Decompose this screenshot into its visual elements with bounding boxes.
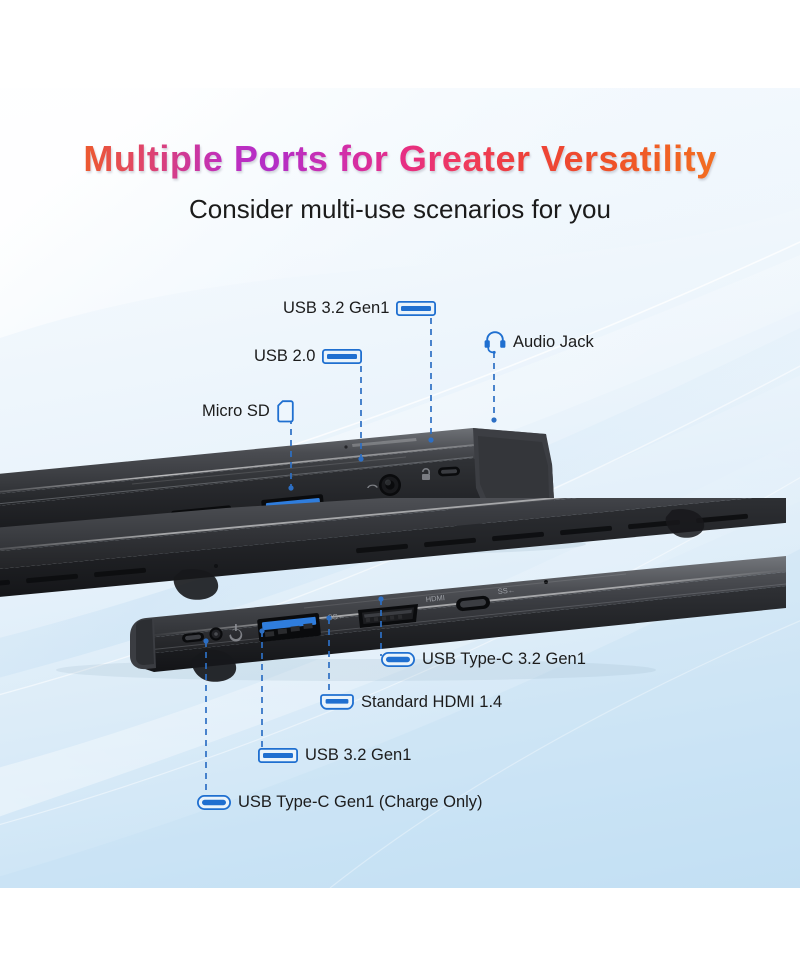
usb-a-port-icon bbox=[396, 301, 436, 316]
headset-icon bbox=[484, 330, 506, 354]
label-usbc32gen1: USB Type-C 3.2 Gen1 bbox=[381, 651, 586, 668]
label-usb32gen1-top: USB 3.2 Gen1 bbox=[283, 300, 436, 317]
hdmi-port-icon bbox=[320, 694, 354, 710]
usb-c-port-icon bbox=[381, 652, 415, 667]
label-usbc-charge-text: USB Type-C Gen1 (Charge Only) bbox=[238, 794, 483, 811]
label-audiojack: Audio Jack bbox=[484, 330, 594, 354]
label-hdmi: Standard HDMI 1.4 bbox=[320, 694, 502, 711]
label-usb20-text: USB 2.0 bbox=[254, 348, 315, 365]
label-audiojack-text: Audio Jack bbox=[513, 334, 594, 351]
label-usb32gen1-bottom-text: USB 3.2 Gen1 bbox=[305, 747, 411, 764]
usb-c-port-icon bbox=[197, 795, 231, 810]
label-usb32gen1-bottom: USB 3.2 Gen1 bbox=[258, 747, 411, 764]
label-usb32gen1-top-text: USB 3.2 Gen1 bbox=[283, 300, 389, 317]
micro-sd-card-icon bbox=[277, 400, 294, 423]
usb-a-port-icon bbox=[258, 748, 298, 763]
annotation-layer: USB 3.2 Gen1 USB 2.0 Micro SD bbox=[0, 0, 800, 977]
label-usbc32gen1-text: USB Type-C 3.2 Gen1 bbox=[422, 651, 586, 668]
label-hdmi-text: Standard HDMI 1.4 bbox=[361, 694, 502, 711]
leader-lines bbox=[0, 0, 800, 977]
label-usbc-charge: USB Type-C Gen1 (Charge Only) bbox=[197, 794, 483, 811]
infographic-canvas: Multiple Ports for Greater Versatility C… bbox=[0, 0, 800, 977]
label-microsd-text: Micro SD bbox=[202, 403, 270, 420]
usb-a-port-icon bbox=[322, 349, 362, 364]
label-microsd: Micro SD bbox=[202, 400, 294, 423]
label-usb20: USB 2.0 bbox=[254, 348, 362, 365]
